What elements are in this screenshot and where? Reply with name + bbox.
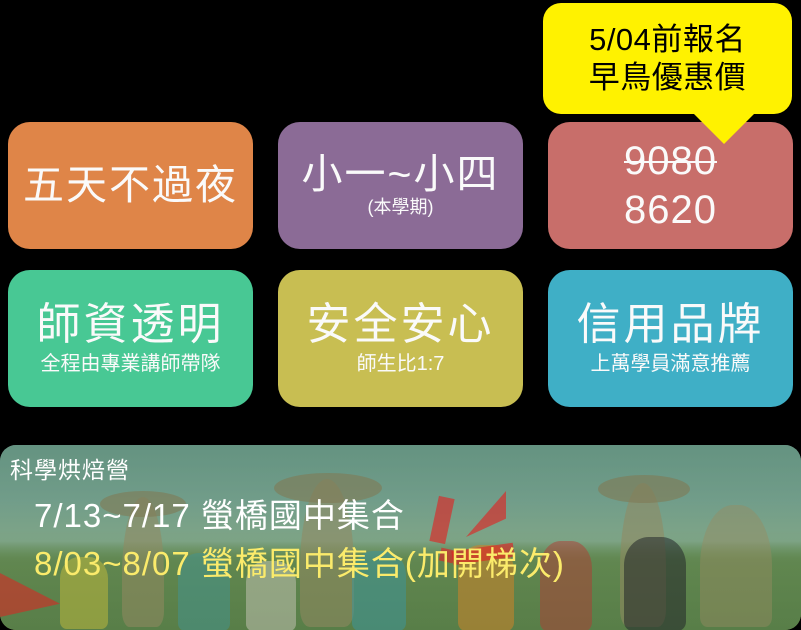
card-safety-title: 安全安心 [307,302,495,348]
early-bird-promo-bubble: 5/04前報名 早鳥優惠價 [543,3,792,114]
card-safety-subtitle: 師生比1:7 [357,353,445,375]
card-teachers-subtitle: 全程由專業講師帶隊 [41,353,221,375]
promo-bubble-line-1: 5/04前報名 [589,21,746,58]
card-grade-range-title: 小一~小四 [302,153,500,196]
card-teachers[interactable]: 師資透明 全程由專業講師帶隊 [8,270,253,407]
feature-card-row-2: 師資透明 全程由專業講師帶隊 安全安心 師生比1:7 信用品牌 上萬學員滿意推薦 [0,270,801,407]
price-discounted: 8620 [624,188,717,233]
card-price[interactable]: 9080 8620 [548,122,793,249]
card-grade-range-subtitle: (本學期) [368,198,434,218]
promo-bubble-tail-icon [693,113,755,144]
card-brand-subtitle: 上萬學員滿意推薦 [591,353,751,375]
card-duration[interactable]: 五天不過夜 [8,122,253,249]
camp-schedule-banner[interactable]: 科學烘焙營 7/13~7/17 螢橋國中集合 8/03~8/07 螢橋國中集合(… [0,445,801,630]
promo-banner-root: 5/04前報名 早鳥優惠價 五天不過夜 小一~小四 (本學期) 9080 862… [0,0,801,630]
session-2-label: 8/03~8/07 螢橋國中集合(加開梯次) [34,537,565,585]
card-grade-range[interactable]: 小一~小四 (本學期) [278,122,523,249]
feature-card-grid: 五天不過夜 小一~小四 (本學期) 9080 8620 師資透明 全程由專業講師… [0,122,801,407]
card-brand-title: 信用品牌 [577,302,765,348]
card-duration-title: 五天不過夜 [23,164,238,207]
price-original: 9080 [624,139,717,184]
card-teachers-title: 師資透明 [37,302,225,348]
session-1-label: 7/13~7/17 螢橋國中集合 [34,489,405,537]
feature-card-row-1: 五天不過夜 小一~小四 (本學期) 9080 8620 [0,122,801,249]
promo-bubble-line-2: 早鳥優惠價 [589,59,747,96]
card-safety[interactable]: 安全安心 師生比1:7 [278,270,523,407]
banner-text-block: 科學烘焙營 7/13~7/17 螢橋國中集合 8/03~8/07 螢橋國中集合(… [0,445,801,630]
camp-name-label: 科學烘焙營 [10,451,130,485]
card-brand[interactable]: 信用品牌 上萬學員滿意推薦 [548,270,793,407]
